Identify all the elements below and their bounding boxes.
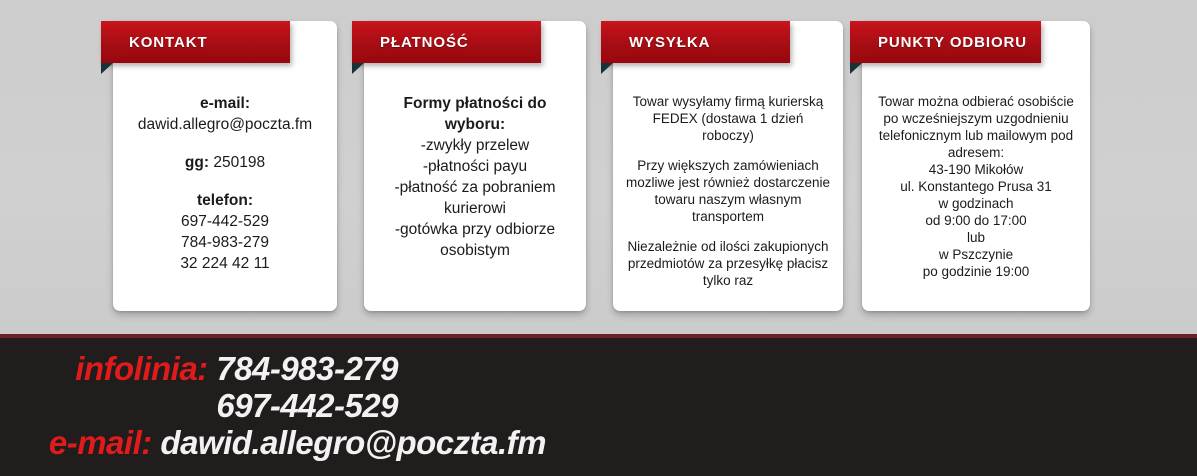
kontakt-phone-1: 697-442-529 (121, 211, 329, 232)
kontakt-gg-value: 250198 (209, 154, 265, 171)
footer-email-label: e-mail: (49, 424, 152, 461)
punkty-hours-label: w godzinach (870, 195, 1082, 212)
kontakt-gg-label: gg: (185, 154, 209, 171)
kontakt-phone-2: 784-983-279 (121, 232, 329, 253)
kontakt-email-label: e-mail: (121, 93, 329, 114)
spacer (621, 144, 835, 157)
ribbon-header-wysylka: WYSYŁKA (601, 21, 790, 63)
wysylka-line-7: transportem (621, 208, 835, 225)
info-card-punkty-odbioru: Towar można odbierać osobiście po wcześn… (862, 21, 1090, 311)
punkty-hours-value: od 9:00 do 17:00 (870, 212, 1082, 229)
kontakt-telefon-label: telefon: (121, 190, 329, 211)
punkty-line-1: Towar można odbierać osobiście (870, 93, 1082, 110)
wysylka-line-2: FEDEX (dostawa 1 dzień (621, 110, 835, 127)
wysylka-line-1: Towar wysyłamy firmą kurierską (621, 93, 835, 110)
punkty-city-2: w Pszczynie (870, 246, 1082, 263)
footer-bar: infolinia: 784-983-279 697-442-529 e-mai… (0, 338, 1197, 476)
platnosc-option-4a: -gotówka przy odbiorze (372, 219, 578, 240)
ribbon-label-wysylka: WYSYŁKA (629, 34, 710, 51)
spacer (121, 135, 329, 152)
spacer (121, 173, 329, 190)
footer-email-value[interactable]: dawid.allegro@poczta.fm (160, 424, 546, 461)
platnosc-option-1: -zwykły przelew (372, 135, 578, 156)
footer-phone-1[interactable]: 784-983-279 (216, 350, 398, 387)
platnosc-option-4b: osobistym (372, 240, 578, 261)
info-card-wysylka: Towar wysyłamy firmą kurierską FEDEX (do… (613, 21, 843, 311)
footer-infolinia-row: infolinia: 784-983-279 (0, 350, 560, 387)
wysylka-line-5: mozliwe jest również dostarczenie (621, 174, 835, 191)
punkty-hours-2: po godzinie 19:00 (870, 263, 1082, 280)
wysylka-line-10: tylko raz (621, 272, 835, 289)
spacer (621, 225, 835, 238)
kontakt-gg-line: gg: 250198 (121, 152, 329, 173)
cards-section: e-mail: dawid.allegro@poczta.fm gg: 2501… (0, 0, 1197, 334)
punkty-postal-city: 43-190 Mikołów (870, 161, 1082, 178)
wysylka-line-3: roboczy) (621, 127, 835, 144)
footer-infolinia-label: infolinia: (75, 350, 207, 387)
wysylka-line-4: Przy większych zamówieniach (621, 157, 835, 174)
ribbon-header-punkty-odbioru: PUNKTY ODBIORU (850, 21, 1041, 63)
platnosc-option-3b: kurierowi (372, 198, 578, 219)
card-body-punkty-odbioru: Towar można odbierać osobiście po wcześn… (862, 93, 1090, 280)
punkty-line-3: telefonicznym lub mailowym pod (870, 127, 1082, 144)
footer-phone-row-2: 697-442-529 (0, 387, 560, 424)
ribbon-header-platnosc: PŁATNOŚĆ (352, 21, 541, 63)
kontakt-email-value: dawid.allegro@poczta.fm (121, 114, 329, 135)
ribbon-label-kontakt: KONTAKT (129, 34, 208, 51)
platnosc-option-3a: -płatność za pobraniem (372, 177, 578, 198)
ribbon-label-platnosc: PŁATNOŚĆ (380, 34, 469, 51)
punkty-or: lub (870, 229, 1082, 246)
card-body-platnosc: Formy płatności do wyboru: -zwykły przel… (364, 93, 586, 261)
footer-contact-block: infolinia: 784-983-279 697-442-529 e-mai… (0, 350, 560, 461)
kontakt-phone-3: 32 224 42 11 (121, 253, 329, 274)
wysylka-line-6: towaru naszym własnym (621, 191, 835, 208)
punkty-street: ul. Konstantego Prusa 31 (870, 178, 1082, 195)
wysylka-line-8: Niezależnie od ilości zakupionych (621, 238, 835, 255)
footer-phone-2[interactable]: 697-442-529 (216, 387, 398, 424)
card-body-kontakt: e-mail: dawid.allegro@poczta.fm gg: 2501… (113, 93, 337, 274)
footer-email-row: e-mail: dawid.allegro@poczta.fm (0, 424, 560, 461)
platnosc-option-2: -płatności payu (372, 156, 578, 177)
punkty-line-4: adresem: (870, 144, 1082, 161)
card-body-wysylka: Towar wysyłamy firmą kurierską FEDEX (do… (613, 93, 843, 289)
punkty-line-2: po wcześniejszym uzgodnieniu (870, 110, 1082, 127)
platnosc-heading-1: Formy płatności do (372, 93, 578, 114)
wysylka-line-9: przedmiotów za przesyłkę płacisz (621, 255, 835, 272)
platnosc-heading-2: wyboru: (372, 114, 578, 135)
ribbon-header-kontakt: KONTAKT (101, 21, 290, 63)
ribbon-label-punkty-odbioru: PUNKTY ODBIORU (878, 34, 1027, 51)
info-card-kontakt: e-mail: dawid.allegro@poczta.fm gg: 2501… (113, 21, 337, 311)
info-card-platnosc: Formy płatności do wyboru: -zwykły przel… (364, 21, 586, 311)
